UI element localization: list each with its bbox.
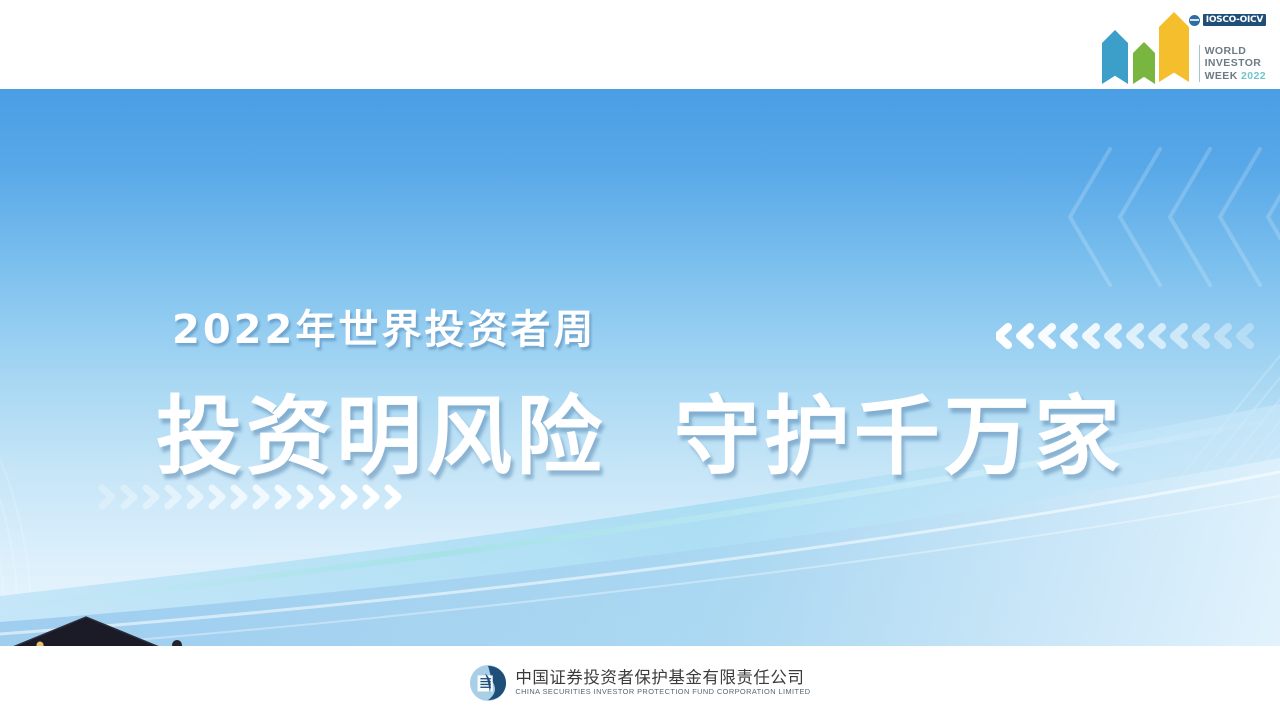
- top-header-bar: IOSCO-OICV WORLD INVESTOR WEEK 2022: [0, 0, 1280, 89]
- poster-page: IOSCO-OICV WORLD INVESTOR WEEK 2022: [0, 0, 1280, 719]
- graduation-cap-icon: [8, 617, 164, 646]
- graduate-mascot-icon: [0, 583, 209, 646]
- pencil-teal-icon: [1102, 30, 1128, 82]
- wiw-wordmark: WORLD INVESTOR WEEK 2022: [1199, 45, 1266, 82]
- main-banner: 2022年世界投资者周 投资明风险 守护千万家: [0, 89, 1280, 646]
- wiw-week-label: WEEK: [1205, 70, 1238, 82]
- csipf-name-en: CHINA SECURITIES INVESTOR PROTECTION FUN…: [515, 688, 810, 696]
- wiw-line-investor: INVESTOR: [1205, 57, 1266, 69]
- pencil-green-icon: [1133, 42, 1155, 82]
- wiw-logo-text-group: IOSCO-OICV WORLD INVESTOR WEEK 2022: [1192, 6, 1266, 86]
- csipf-logo: 中国证券投资者保护基金有限责任公司 CHINA SECURITIES INVES…: [469, 664, 810, 702]
- csipf-emblem-icon: [469, 664, 507, 702]
- wiw-year-label: 2022: [1241, 70, 1266, 82]
- wiw-line-week-year: WEEK 2022: [1205, 70, 1266, 82]
- world-investor-week-logo: IOSCO-OICV WORLD INVESTOR WEEK 2022: [1100, 4, 1268, 86]
- footer-bar: 中国证券投资者保护基金有限责任公司 CHINA SECURITIES INVES…: [0, 646, 1280, 719]
- pencil-yellow-icon: [1159, 12, 1189, 82]
- iosco-badge-label: IOSCO-OICV: [1203, 14, 1266, 26]
- banner-text-block: 2022年世界投资者周 投资明风险 守护千万家: [0, 89, 1280, 646]
- banner-subtitle: 2022年世界投资者周: [172, 297, 596, 355]
- three-pencils-icon: [1100, 8, 1192, 86]
- banner-headline: 投资明风险 守护千万家: [156, 366, 1124, 491]
- csipf-name-block: 中国证券投资者保护基金有限责任公司 CHINA SECURITIES INVES…: [515, 669, 810, 696]
- globe-icon: [1189, 15, 1200, 26]
- iosco-badge: IOSCO-OICV: [1189, 14, 1266, 26]
- wiw-line-world: WORLD: [1205, 45, 1266, 57]
- csipf-name-cn: 中国证券投资者保护基金有限责任公司: [515, 669, 810, 687]
